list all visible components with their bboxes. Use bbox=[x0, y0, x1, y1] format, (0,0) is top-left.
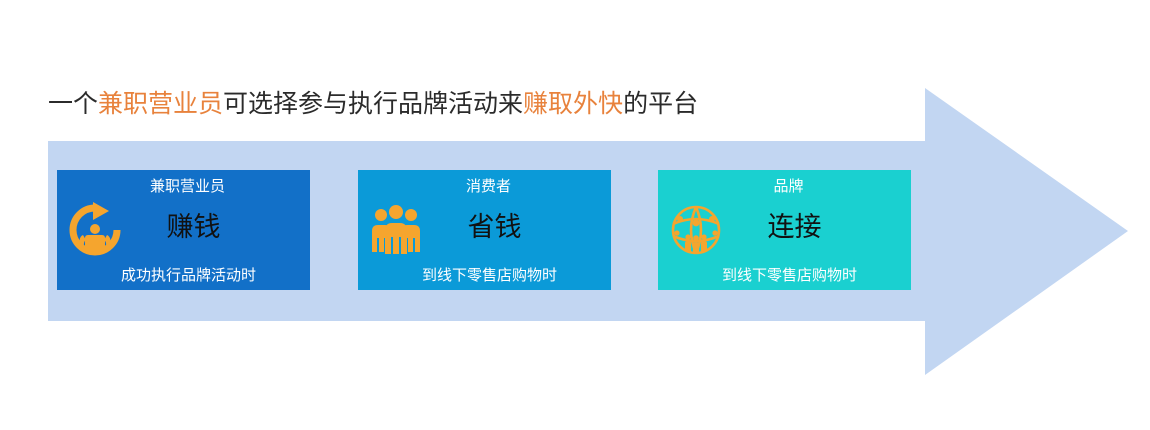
card-caption: 到线下零售店购物时 bbox=[658, 265, 911, 285]
page-title: 一个兼职营业员可选择参与执行品牌活动来赚取外快的平台 bbox=[48, 88, 698, 120]
card-heading: 兼职营业员 bbox=[57, 176, 310, 196]
card-brand[interactable]: 品牌 bbox=[658, 170, 911, 290]
title-segment-1: 一个 bbox=[48, 89, 98, 118]
title-segment-4-highlight: 赚取外快 bbox=[523, 89, 623, 118]
card-part-time-clerk[interactable]: 兼职营业员 赚钱 成功执行品牌活动时 bbox=[57, 170, 310, 290]
card-heading: 品牌 bbox=[658, 176, 911, 196]
title-segment-2-highlight: 兼职营业员 bbox=[98, 89, 223, 118]
card-heading: 消费者 bbox=[358, 176, 611, 196]
card-consumer[interactable]: 消费者 省钱 到线下零售店购物时 bbox=[358, 170, 611, 290]
card-caption: 到线下零售店购物时 bbox=[358, 265, 611, 285]
card-main-text: 连接 bbox=[658, 210, 911, 246]
title-segment-5: 的平台 bbox=[623, 89, 698, 118]
card-caption: 成功执行品牌活动时 bbox=[57, 265, 310, 285]
card-main-text: 省钱 bbox=[358, 210, 611, 246]
card-main-text: 赚钱 bbox=[57, 210, 310, 246]
cards-row: 兼职营业员 赚钱 成功执行品牌活动时 消费者 bbox=[57, 170, 907, 290]
title-segment-3: 可选择参与执行品牌活动来 bbox=[223, 89, 523, 118]
